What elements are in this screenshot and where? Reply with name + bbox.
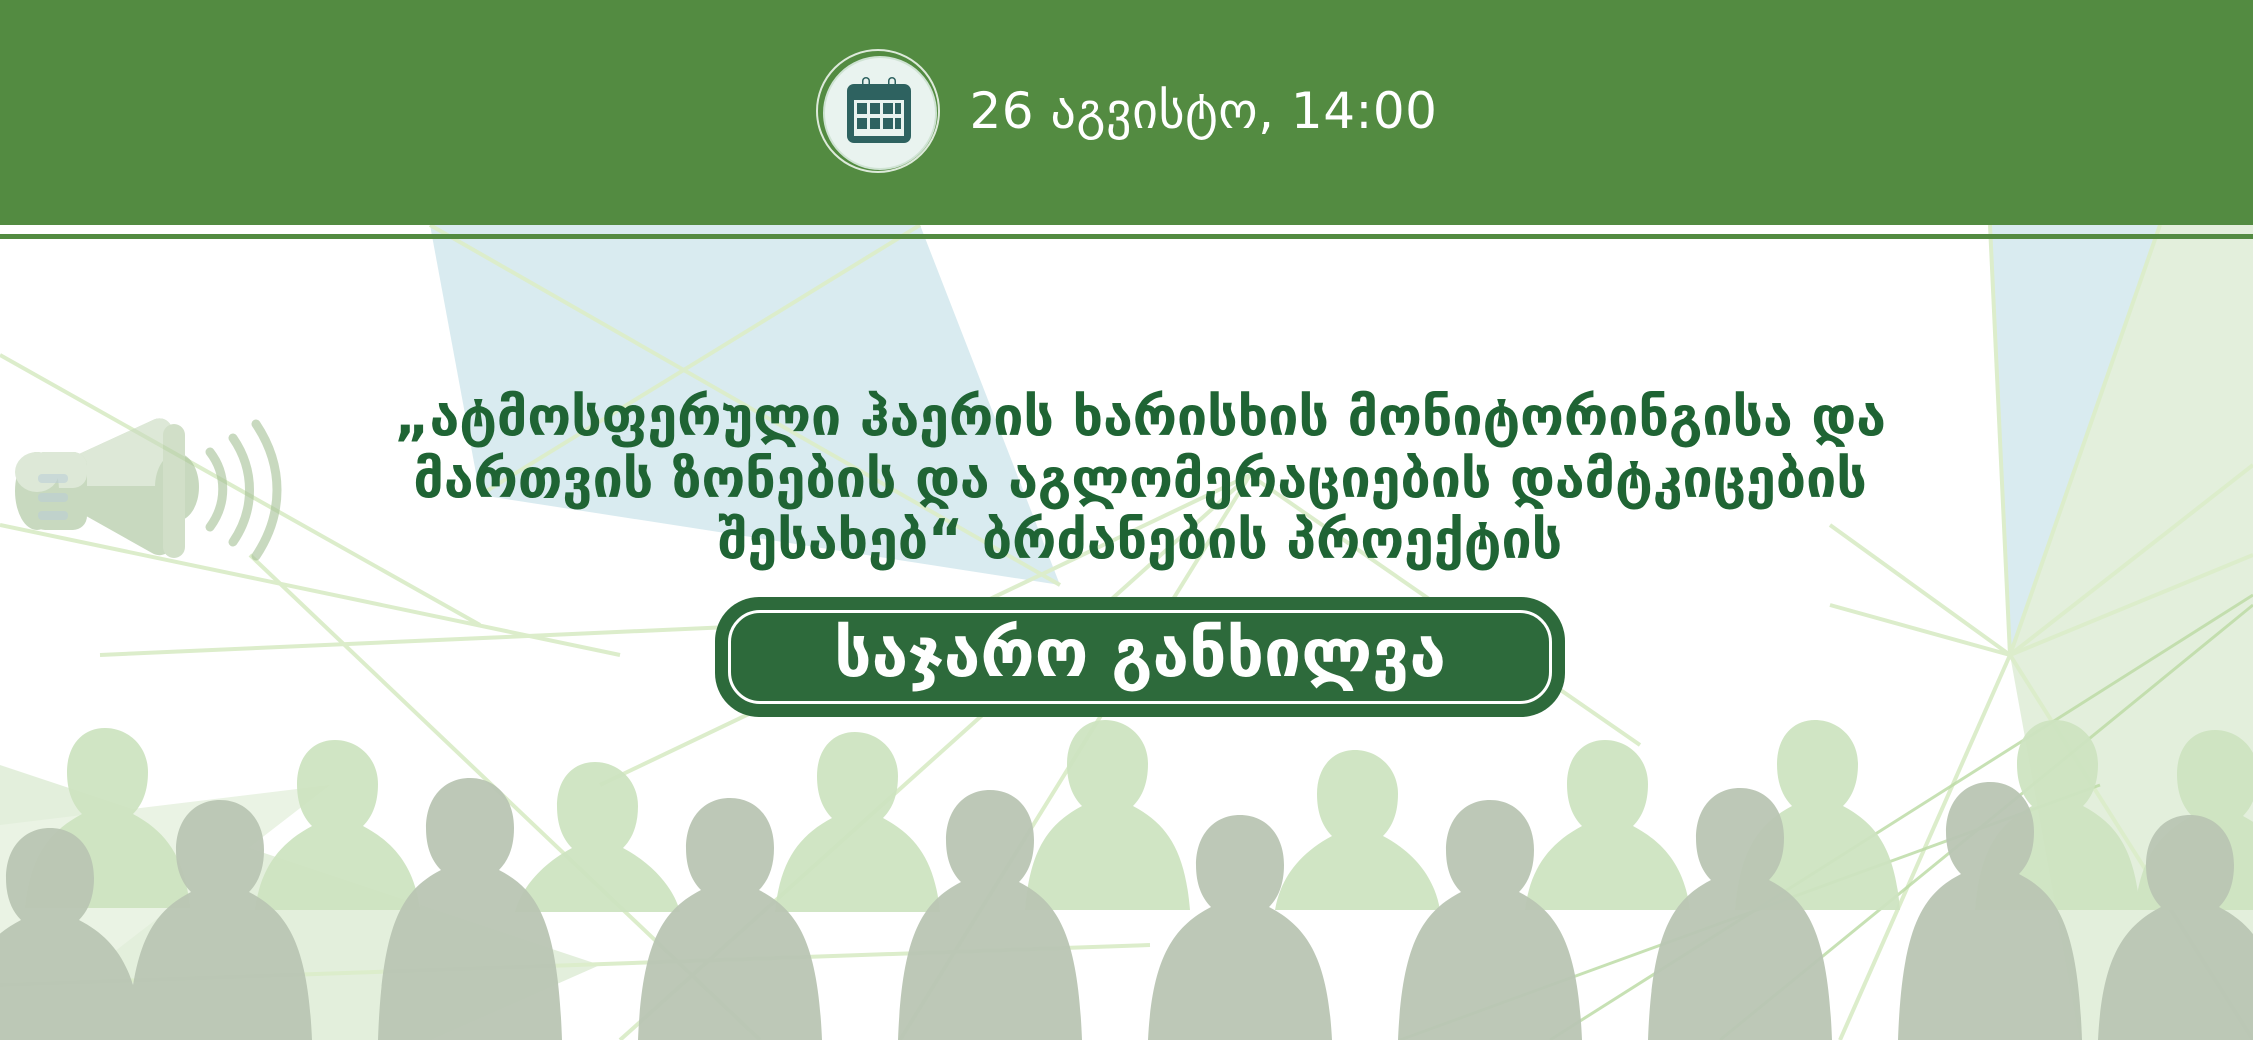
public-hearing-badge-label: საჯარო განხილვა bbox=[834, 621, 1446, 693]
public-hearing-badge: საჯარო განხილვა bbox=[715, 597, 1565, 717]
megaphone-svg bbox=[5, 390, 305, 590]
title-line-2: მართვის ზონების და აგლომერაციების დამტკი… bbox=[290, 448, 1990, 510]
calendar-glyph bbox=[843, 75, 915, 147]
header-inner: 26 აგვისტო, 14:00 bbox=[0, 0, 2253, 225]
main-content: „ატმოსფერული ჰაერის ხარისხის მონიტორინგი… bbox=[290, 386, 1990, 717]
megaphone-icon bbox=[5, 390, 305, 590]
title-line-3: შესახებ“ ბრძანების პროექტის bbox=[290, 509, 1990, 571]
crowd-svg bbox=[0, 710, 2253, 1040]
header-divider-rule bbox=[0, 234, 2253, 239]
title-line-1: „ატმოსფერული ჰაერის ხარისხის მონიტორინგი… bbox=[290, 386, 1990, 448]
crowd-silhouettes bbox=[0, 710, 2253, 1040]
badge-container: საჯარო განხილვა bbox=[290, 597, 1990, 717]
header-bar: 26 აგვისტო, 14:00 bbox=[0, 0, 2253, 225]
public-hearing-banner: „ატმოსფერული ჰაერის ხარისხის მონიტორინგი… bbox=[0, 0, 2253, 1040]
event-datetime: 26 აგვისტო, 14:00 bbox=[970, 86, 1438, 140]
crowd-back-row bbox=[25, 720, 2253, 912]
calendar-icon bbox=[816, 49, 944, 177]
page-title: „ატმოსფერული ჰაერის ხარისხის მონიტორინგი… bbox=[290, 386, 1990, 571]
